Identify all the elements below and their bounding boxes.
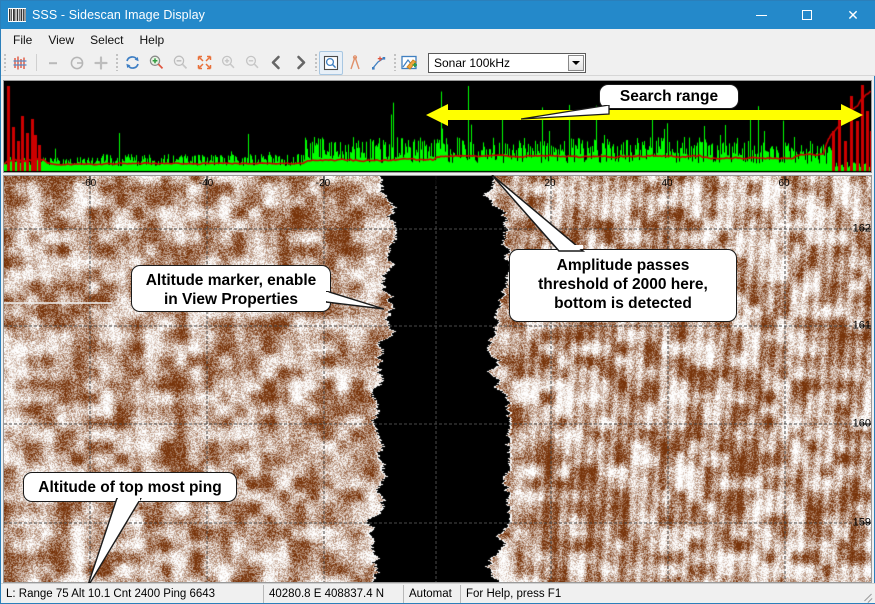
x-axis-tick-label: 20 [544,179,555,189]
channel-select[interactable]: Sonar 100kHz [428,53,586,73]
measure-icon[interactable] [343,51,367,75]
toolbar-grip-1[interactable] [1,53,8,73]
x-axis-tick-label: 0 [432,179,438,189]
toolbar-grip-2[interactable] [113,53,120,73]
status-help: For Help, press F1 [460,585,860,603]
x-axis-tick-label: 40 [661,179,672,189]
menu-file[interactable]: File [6,31,39,49]
menu-help[interactable]: Help [133,31,172,49]
chevron-down-icon[interactable] [568,55,584,71]
status-position: 40280.8 E 408837.4 N [263,585,403,603]
y-axis-tick-label: 161 [853,321,871,332]
minimize-button[interactable] [738,1,784,29]
callout-amplitude-threshold-line1: Amplitude passes [520,256,726,275]
amplitude-echogram-panel[interactable] [3,80,872,173]
refresh-icon[interactable] [120,51,144,75]
next-icon[interactable] [288,51,312,75]
y-axis-tick-label: 160 [853,419,871,430]
y-axis-tick-label: 159 [853,518,871,529]
polyline-icon[interactable] [367,51,391,75]
close-button[interactable]: ✕ [830,1,875,29]
callout-amplitude-threshold-line3: bottom is detected [520,294,726,313]
callout-search-range-text: Search range [620,88,718,105]
zoom-in-small-icon[interactable] [216,51,240,75]
maximize-button[interactable] [784,1,830,29]
callout-altitude-top-ping: Altitude of top most ping [23,472,237,502]
x-axis-tick-label: -40 [199,179,213,189]
toolbar-grip-3[interactable] [312,53,319,73]
callout-altitude-marker: Altitude marker, enable in View Properti… [131,265,331,312]
menu-view[interactable]: View [41,31,81,49]
previous-icon[interactable] [264,51,288,75]
zoom-out-small-icon[interactable] [240,51,264,75]
callout-amplitude-threshold: Amplitude passes threshold of 2000 here,… [509,249,737,322]
fit-screen-icon[interactable] [192,51,216,75]
window-title: SSS - Sidescan Image Display [32,8,205,22]
sonar-grid-overlay [4,176,871,582]
resize-grip-icon[interactable] [860,587,874,601]
title-bar: SSS - Sidescan Image Display ✕ [1,1,875,29]
x-axis-tick-label: -20 [316,179,330,189]
application-window: SSS - Sidescan Image Display ✕ File View… [0,0,875,604]
edit-image-icon[interactable] [398,51,422,75]
status-bar: L: Range 75 Alt 10.1 Cnt 2400 Ping 6643 … [1,583,875,603]
window-controls: ✕ [738,1,875,29]
callout-altitude-marker-line1: Altitude marker, enable [142,271,320,290]
minus-icon[interactable] [41,51,65,75]
menu-bar: File View Select Help [1,29,875,50]
callout-altitude-marker-line2: in View Properties [142,290,320,309]
callout-altitude-top-ping-text: Altitude of top most ping [38,479,221,496]
y-axis-tick-label: 162 [853,224,871,235]
select-rect-icon[interactable] [319,51,343,75]
sidescan-app-icon [8,7,26,23]
toolbar-grip-4[interactable] [391,53,398,73]
amplitude-trace [4,81,871,172]
waveform-icon[interactable] [8,51,32,75]
sonar-waterfall-image[interactable] [3,175,872,583]
zoom-in-icon[interactable] [144,51,168,75]
move-icon[interactable] [89,51,113,75]
status-range-info: L: Range 75 Alt 10.1 Cnt 2400 Ping 6643 [1,585,263,603]
status-mode: Automat [403,585,460,603]
menu-select[interactable]: Select [83,31,130,49]
channel-select-value: Sonar 100kHz [429,56,510,70]
callout-search-range: Search range [599,84,739,109]
toolbar-separator-1 [36,54,37,71]
callout-amplitude-threshold-line2: threshold of 2000 here, [520,275,726,294]
x-axis-tick-label: 60 [778,179,789,189]
zoom-out-icon[interactable] [168,51,192,75]
toolbar: Sonar 100kHz [1,50,875,76]
globe-icon[interactable] [65,51,89,75]
x-axis-tick-label: -60 [82,179,96,189]
